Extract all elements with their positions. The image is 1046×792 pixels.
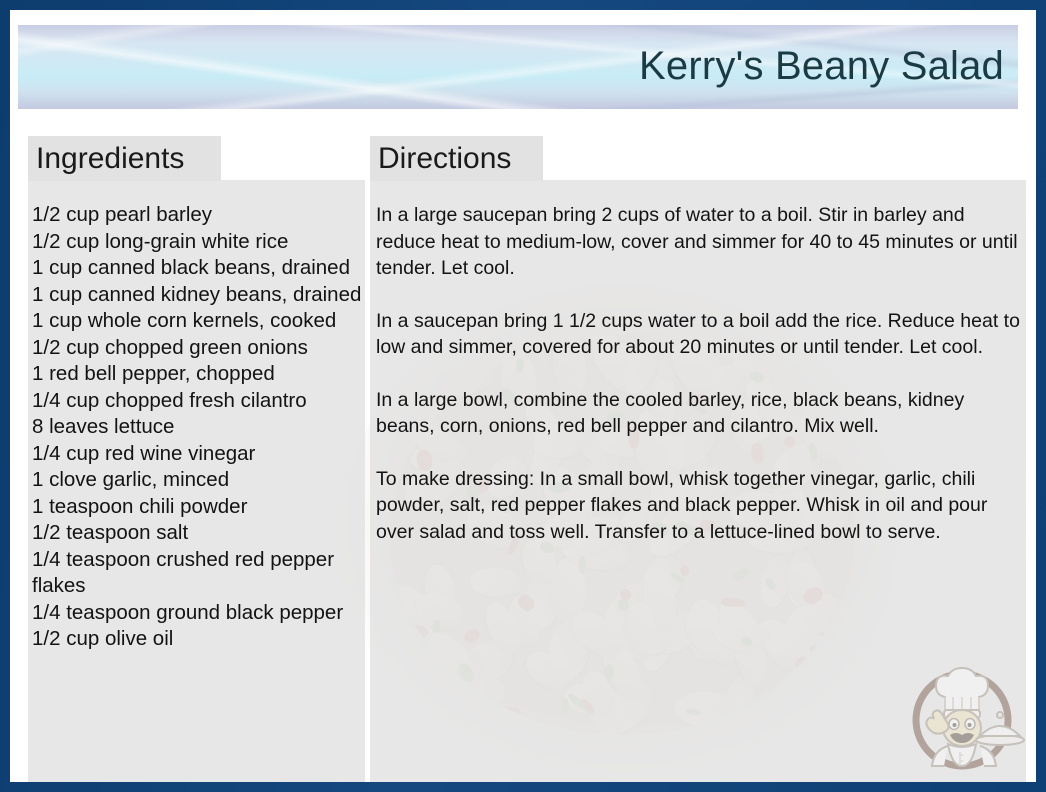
ingredients-list: 1/2 cup pearl barley1/2 cup long-grain w… — [32, 202, 362, 653]
ingredient-item: 1/4 teaspoon ground black pepper — [32, 600, 362, 627]
ingredient-item: 1/4 cup red wine vinegar — [32, 441, 362, 468]
ingredient-item: 1 clove garlic, minced — [32, 467, 362, 494]
ingredients-heading-tab: Ingredients — [28, 136, 221, 181]
direction-step: In a saucepan bring 1 1/2 cups water to … — [376, 308, 1028, 361]
ingredients-heading-label: Ingredients — [36, 144, 184, 174]
title-banner: Kerry's Beany Salad — [18, 25, 1018, 109]
ingredient-item: 1/4 teaspoon crushed red pepper flakes — [32, 547, 362, 600]
directions-heading-label: Directions — [378, 144, 511, 174]
direction-step: To make dressing: In a small bowl, whisk… — [376, 466, 1028, 546]
ingredient-item: 1/2 cup chopped green onions — [32, 335, 362, 362]
directions-heading-tab: Directions — [370, 136, 543, 181]
ingredient-item: 1 cup canned kidney beans, drained — [32, 282, 362, 309]
ingredient-item: 1/2 cup pearl barley — [32, 202, 362, 229]
chef-with-cloche-logo — [896, 646, 1028, 778]
ingredient-item: 1 red bell pepper, chopped — [32, 361, 362, 388]
recipe-card-frame: Kerry's Beany Salad Ingredients Directio… — [0, 0, 1046, 792]
ingredient-item: 8 leaves lettuce — [32, 414, 362, 441]
ingredient-item: 1/2 cup long-grain white rice — [32, 229, 362, 256]
directions-list: In a large saucepan bring 2 cups of wate… — [376, 202, 1028, 545]
recipe-title: Kerry's Beany Salad — [639, 46, 1004, 86]
ingredient-item: 1/2 teaspoon salt — [32, 520, 362, 547]
ingredient-item: 1 cup canned black beans, drained — [32, 255, 362, 282]
ingredient-item: 1 teaspoon chili powder — [32, 494, 362, 521]
ingredient-item: 1/4 cup chopped fresh cilantro — [32, 388, 362, 415]
recipe-page: Kerry's Beany Salad Ingredients Directio… — [10, 10, 1036, 782]
ingredient-item: 1 cup whole corn kernels, cooked — [32, 308, 362, 335]
direction-step: In a large saucepan bring 2 cups of wate… — [376, 202, 1028, 282]
ingredient-item: 1/2 cup olive oil — [32, 626, 362, 653]
direction-step: In a large bowl, combine the cooled barl… — [376, 387, 1028, 440]
